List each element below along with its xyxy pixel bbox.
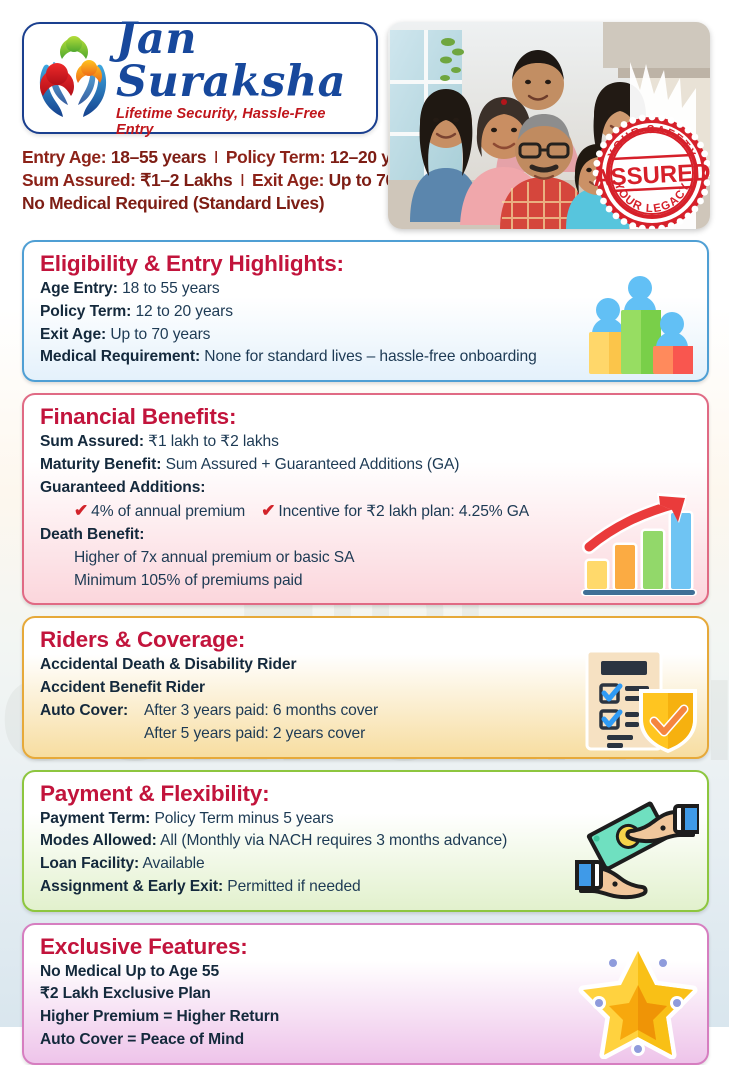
financial-ga-items: ✔4% of annual premium ✔Incentive for ₹2 … xyxy=(40,499,585,524)
header-facts: Entry Age: 18–55 years I Policy Term: 12… xyxy=(22,146,378,215)
payment-row-loan: Loan Facility: Available xyxy=(40,853,585,876)
financial-row-sum-assured: Sum Assured: ₹1 lakh to ₹2 lakhs xyxy=(40,431,585,454)
header: Jan Suraksha Lifetime Security, Hassle-F… xyxy=(22,22,709,229)
exit-age-key: Exit Age: xyxy=(40,326,106,343)
loan-key: Loan Facility: xyxy=(40,855,139,872)
death-benefit-key: Death Benefit: xyxy=(40,526,144,543)
rider-item-2-label: Accident Benefit Rider xyxy=(40,679,205,696)
ga-item-1: ✔4% of annual premium xyxy=(74,499,245,524)
exclusive-item-4-label: Auto Cover = Peace of Mind xyxy=(40,1031,244,1048)
fact-separator-2: I xyxy=(237,170,248,190)
card-title-financial: Financial Benefits: xyxy=(40,404,585,430)
growth-arrow-bar-chart-icon xyxy=(575,491,699,599)
eligibility-row-age-entry: Age Entry: 18 to 55 years xyxy=(40,278,585,301)
sum-assured-value: ₹1–2 Lakhs xyxy=(140,170,232,190)
ga-item-2-label: Incentive for ₹2 lakh plan: 4.25% GA xyxy=(278,503,529,520)
check-icon: ✔ xyxy=(74,501,91,520)
exclusive-item-1: No Medical Up to Age 55 xyxy=(40,961,585,984)
modes-key: Modes Allowed: xyxy=(40,832,157,849)
exclusive-item-4: Auto Cover = Peace of Mind xyxy=(40,1029,585,1052)
fact-row-2: Sum Assured: ₹1–2 Lakhs I Exit Age: Up t… xyxy=(22,169,378,192)
entry-age-value: 18–55 years xyxy=(111,147,206,167)
death-benefit-item-1: Higher of 7x annual premium or basic SA xyxy=(40,547,585,570)
card-financial-benefits: Financial Benefits: Sum Assured: ₹1 lakh… xyxy=(22,393,709,605)
infographic-page: Jan Suraksha Lifetime Security, Hassle-F… xyxy=(0,0,729,1065)
sum-assured-key: Sum Assured: xyxy=(40,433,144,450)
exclusive-item-2: ₹2 Lakh Exclusive Plan xyxy=(40,983,585,1006)
age-entry-value: 18 to 55 years xyxy=(122,280,219,297)
card-title-exclusive: Exclusive Features: xyxy=(40,934,585,960)
financial-row-ga-label: Guaranteed Additions: xyxy=(40,477,585,500)
maturity-key: Maturity Benefit: xyxy=(40,456,161,473)
card-title-eligibility: Eligibility & Entry Highlights: xyxy=(40,251,585,277)
brand-name: Jan Suraksha xyxy=(116,18,362,104)
eligibility-row-exit-age: Exit Age: Up to 70 years xyxy=(40,324,585,347)
brand-wordmark: Jan Suraksha Lifetime Security, Hassle-F… xyxy=(116,18,366,138)
sum-assured-val: ₹1 lakh to ₹2 lakhs xyxy=(148,433,279,450)
payment-row-assignment: Assignment & Early Exit: Permitted if ne… xyxy=(40,876,585,899)
gold-star-icon xyxy=(577,945,699,1059)
rider-item-1: Accidental Death & Disability Rider xyxy=(40,654,585,677)
hands-holding-family-icon xyxy=(30,30,116,126)
medical-key: Medical Requirement: xyxy=(40,348,200,365)
fact-row-3: No Medical Required (Standard Lives) xyxy=(22,192,378,215)
payment-row-modes: Modes Allowed: All (Monthly via NACH req… xyxy=(40,830,585,853)
auto-cover-key: Auto Cover: xyxy=(40,700,144,723)
death-benefit-item-2: Minimum 105% of premiums paid xyxy=(40,570,585,593)
rider-item-1-label: Accidental Death & Disability Rider xyxy=(40,656,296,673)
policy-term-value: 12 to 20 years xyxy=(135,303,232,320)
maturity-val: Sum Assured + Guaranteed Additions (GA) xyxy=(166,456,460,473)
loan-value: Available xyxy=(142,855,204,872)
exclusive-item-3-label: Higher Premium = Higher Return xyxy=(40,1008,279,1025)
medical-value: None for standard lives – hassle-free on… xyxy=(204,348,536,365)
payment-term-value: Policy Term minus 5 years xyxy=(154,810,333,827)
financial-death-benefit-label: Death Benefit: xyxy=(40,524,585,547)
exit-age-value: Up to 70 years xyxy=(110,326,210,343)
rider-item-2: Accident Benefit Rider xyxy=(40,677,585,700)
card-title-payment: Payment & Flexibility: xyxy=(40,781,585,807)
card-payment-flexibility: Payment & Flexibility: Payment Term: Pol… xyxy=(22,770,709,912)
ga-item-2: ✔Incentive for ₹2 lakh plan: 4.25% GA xyxy=(261,499,529,524)
assignment-value: Permitted if needed xyxy=(227,878,360,895)
auto-cover-key-spacer xyxy=(40,723,144,746)
exit-age-label: Exit Age: xyxy=(252,170,324,190)
exclusive-item-2-label: ₹2 Lakh Exclusive Plan xyxy=(40,985,211,1002)
check-icon: ✔ xyxy=(261,501,278,520)
payment-row-term: Payment Term: Policy Term minus 5 years xyxy=(40,808,585,831)
exclusive-item-3: Higher Premium = Higher Return xyxy=(40,1006,585,1029)
payment-term-key: Payment Term: xyxy=(40,810,150,827)
card-riders-coverage: Riders & Coverage: Accidental Death & Di… xyxy=(22,616,709,758)
brand-tagline: Lifetime Security, Hassle-Free Entry xyxy=(116,106,362,138)
eligibility-row-medical: Medical Requirement: None for standard l… xyxy=(40,346,585,369)
card-eligibility: Eligibility & Entry Highlights: Age Entr… xyxy=(22,240,709,382)
fact-separator-1: I xyxy=(211,147,222,167)
policy-term-key: Policy Term: xyxy=(40,303,131,320)
modes-value: All (Monthly via NACH requires 3 months … xyxy=(160,832,507,849)
auto-cover-value-2: After 5 years paid: 2 years cover xyxy=(144,723,365,746)
policy-term-label: Policy Term: xyxy=(226,147,326,167)
eligibility-row-policy-term: Policy Term: 12 to 20 years xyxy=(40,301,585,324)
checklist-shield-icon xyxy=(577,647,699,753)
financial-row-maturity: Maturity Benefit: Sum Assured + Guarante… xyxy=(40,454,585,477)
age-entry-key: Age Entry: xyxy=(40,280,118,297)
fact-row-1: Entry Age: 18–55 years I Policy Term: 12… xyxy=(22,146,378,169)
brand-logo-box: Jan Suraksha Lifetime Security, Hassle-F… xyxy=(22,22,378,134)
hands-exchanging-money-icon xyxy=(575,798,699,906)
family-photo: YOUR SAFETY YOUR LEGACY ASSURED xyxy=(388,22,710,229)
no-medical-note: No Medical Required (Standard Lives) xyxy=(22,193,324,213)
auto-cover-row-2: After 5 years paid: 2 years cover xyxy=(40,723,585,746)
entry-age-label: Entry Age: xyxy=(22,147,106,167)
people-bar-chart-icon xyxy=(581,272,699,376)
ga-key: Guaranteed Additions: xyxy=(40,479,205,496)
exclusive-item-1-label: No Medical Up to Age 55 xyxy=(40,963,219,980)
card-title-riders: Riders & Coverage: xyxy=(40,627,585,653)
auto-cover-row-1: Auto Cover: After 3 years paid: 6 months… xyxy=(40,700,585,723)
auto-cover-value-1: After 3 years paid: 6 months cover xyxy=(144,700,378,723)
ga-item-1-label: 4% of annual premium xyxy=(91,503,245,520)
assured-stamp-badge: YOUR SAFETY YOUR LEGACY ASSURED xyxy=(590,111,710,229)
card-exclusive-features: Exclusive Features: No Medical Up to Age… xyxy=(22,923,709,1065)
sum-assured-label: Sum Assured: xyxy=(22,170,136,190)
assignment-key: Assignment & Early Exit: xyxy=(40,878,223,895)
header-left: Jan Suraksha Lifetime Security, Hassle-F… xyxy=(22,22,378,215)
